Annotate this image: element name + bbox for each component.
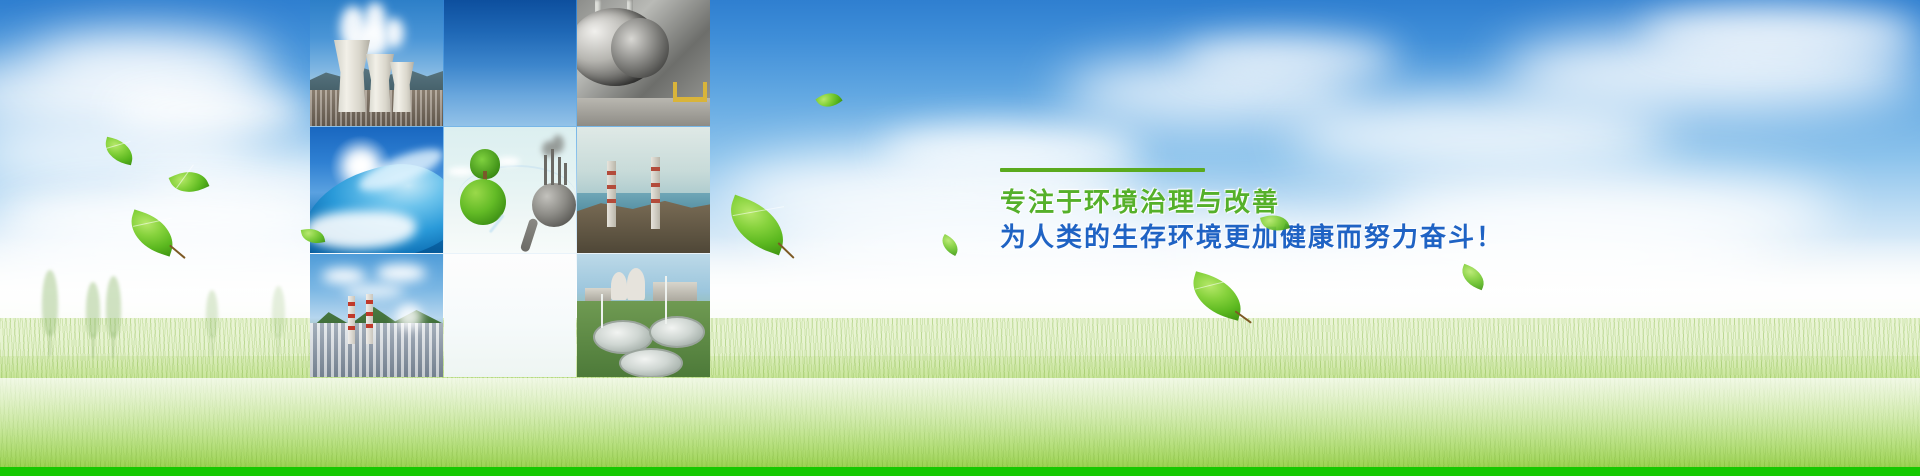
chimney-band	[348, 302, 355, 306]
distant-poplar-tree	[86, 282, 100, 338]
headline-block: 专注于环境治理与改善 为人类的生存环境更加健康而努力奋斗！	[1000, 168, 1504, 252]
stack-band	[651, 183, 660, 187]
stack-band	[607, 171, 616, 175]
dome-building	[627, 268, 645, 300]
collage-cell-ocean-wave[interactable]	[310, 127, 443, 253]
photo-floor	[577, 98, 710, 126]
collage-cell-wastewater-treatment[interactable]	[577, 254, 710, 377]
yellow-railing	[673, 82, 677, 102]
stack-band	[607, 185, 616, 189]
smokestack	[558, 157, 561, 185]
headline-rule	[1000, 168, 1205, 172]
collage-cell-cooling-towers[interactable]	[310, 0, 443, 126]
collage-cell-green-vs-polluted-earth[interactable]	[444, 127, 576, 253]
dome-building	[611, 272, 627, 300]
smoke-plume	[552, 135, 564, 153]
cloud	[322, 268, 366, 284]
headline-line-2: 为人类的生存环境更加健康而努力奋斗！	[1000, 223, 1504, 252]
yellow-railing	[703, 82, 707, 102]
yellow-railing	[673, 97, 707, 102]
collage-cell-industrial-machinery[interactable]	[577, 0, 710, 126]
tree-trunk	[277, 334, 279, 356]
photo-blue-sky	[444, 0, 576, 126]
distant-poplar-tree	[106, 276, 121, 338]
tree-trunk	[112, 332, 114, 358]
clarifier-tank	[649, 316, 705, 348]
distant-poplar-tree	[272, 286, 285, 338]
light-pole	[665, 276, 667, 324]
tree-trunk	[49, 330, 51, 356]
rotary-drum	[611, 18, 669, 78]
cloud	[376, 264, 426, 282]
collage-cell-white-haze[interactable]	[444, 254, 576, 377]
grass-haze	[0, 378, 1920, 468]
distant-poplar-tree	[42, 270, 58, 336]
smokestack	[564, 163, 567, 185]
stack-band	[651, 167, 660, 171]
photo-white-haze	[444, 254, 576, 377]
chimney-band	[348, 314, 355, 318]
chimney-band	[366, 300, 373, 304]
tree-trunk	[211, 334, 213, 356]
environmental-hero-banner: 专注于环境治理与改善 为人类的生存环境更加健康而努力奋斗！	[0, 0, 1920, 476]
collage-cell-plant-in-mountains[interactable]	[310, 254, 443, 377]
plant-building	[653, 282, 697, 302]
tree-trunk	[92, 334, 94, 358]
stack-band	[651, 199, 660, 203]
cloud	[1640, 8, 1920, 58]
smokestack	[544, 155, 547, 185]
cloud	[30, 34, 270, 96]
chimney-band	[366, 312, 373, 316]
distant-poplar-tree	[206, 290, 218, 338]
cloud	[1180, 36, 1400, 80]
chimney-band	[366, 324, 373, 328]
light-pole	[601, 294, 603, 328]
polluted-globe	[532, 183, 576, 227]
stack-band	[607, 199, 616, 203]
steam-plume	[396, 304, 422, 330]
collage-cell-coastal-smokestacks[interactable]	[577, 127, 710, 253]
headline-line-1: 专注于环境治理与改善	[1000, 188, 1504, 217]
photo-collage	[310, 0, 710, 377]
steam-plume	[384, 18, 404, 48]
collage-cell-blue-sky[interactable]	[444, 0, 576, 126]
clarifier-tank	[619, 348, 683, 377]
photo-industrial-plant	[310, 323, 443, 377]
chimney-band	[348, 326, 355, 330]
bottom-green-bar	[0, 467, 1920, 476]
